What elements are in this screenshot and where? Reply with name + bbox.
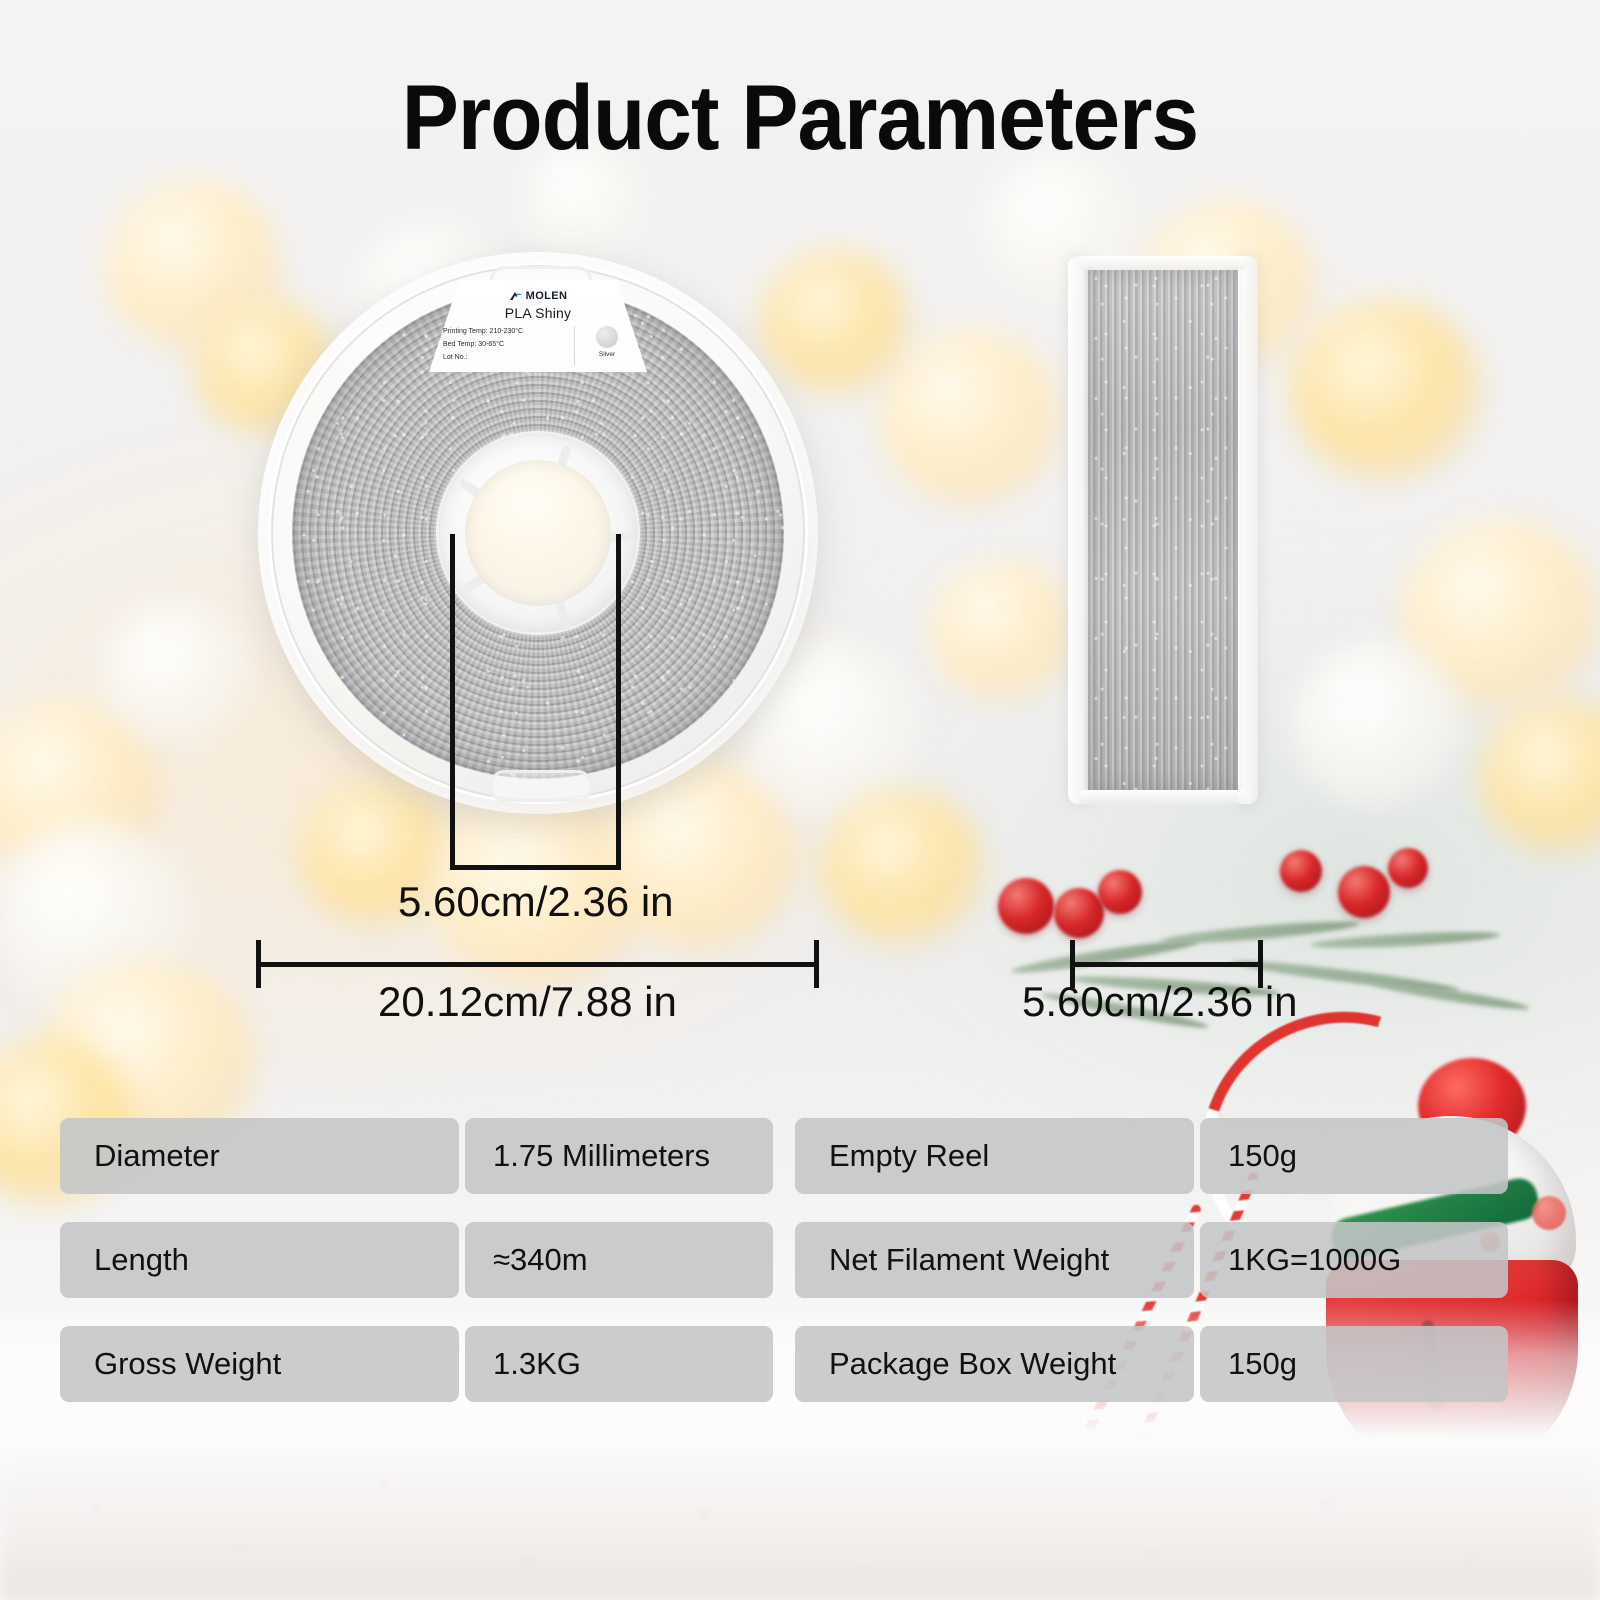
spool-edge-top [1078,256,1248,270]
measure-line-horizontal [450,865,621,870]
spool-hub [439,434,637,632]
label-spec-list: Printing Temp: 210-230°C Bed Temp: 30-65… [443,326,575,365]
bokeh-light [1400,520,1600,710]
label-body: Printing Temp: 210-230°C Bed Temp: 30-65… [429,326,647,365]
spec-pair-right: Package Box Weight 150g [795,1326,1508,1402]
table-row: Gross Weight 1.3KG Package Box Weight 15… [60,1326,1540,1402]
spec-pair-left: Length ≈340m [60,1222,773,1298]
filament-spool-side-view [1068,256,1258,804]
spec-key: Net Filament Weight [795,1222,1194,1298]
bokeh-light [0,700,160,880]
spec-pair-right: Net Filament Weight 1KG=1000G [795,1222,1508,1298]
spec-key: Length [60,1222,459,1298]
spec-key: Package Box Weight [795,1326,1194,1402]
product-label: MOLEN PLA Shiny Printing Temp: 210-230°C… [429,280,647,372]
bokeh-light [820,790,985,945]
table-row: Diameter 1.75 Millimeters Empty Reel 150… [60,1118,1540,1194]
bokeh-light [1480,700,1600,855]
spec-key: Diameter [60,1118,459,1194]
spec-key: Gross Weight [60,1326,459,1402]
spool-flange-left [1068,256,1088,804]
product-name: PLA Shiny [429,305,647,321]
amolen-swoosh-icon [509,291,523,302]
measure-line-vertical [450,534,455,870]
spec-value: 1.75 Millimeters [465,1118,773,1194]
brand-logo: MOLEN [429,290,647,302]
spec-value: 1.3KG [465,1326,773,1402]
color-swatch [596,326,618,348]
spec-value: 150g [1200,1118,1508,1194]
bokeh-light [880,330,1060,505]
bokeh-light [100,600,250,745]
measure-line-horizontal [1070,962,1263,967]
bokeh-light [1290,640,1465,810]
snow-ridge [0,1450,1600,1600]
spec-pair-right: Empty Reel 150g [795,1118,1508,1194]
specification-table: Diameter 1.75 Millimeters Empty Reel 150… [60,1118,1540,1430]
table-row: Length ≈340m Net Filament Weight 1KG=100… [60,1222,1540,1298]
bokeh-light [1290,300,1480,480]
spool-handle-slot [490,770,592,802]
spool-thickness-label: 5.60cm/2.36 in [1022,978,1298,1026]
spec-value: 1KG=1000G [1200,1222,1508,1298]
spec-value: 150g [1200,1326,1508,1402]
label-color-block: Silver [575,326,633,365]
label-printing-temp: Printing Temp: 210-230°C [443,326,568,339]
hub-width-label: 5.60cm/2.36 in [398,878,674,926]
spool-hub-bore [465,460,611,606]
measure-line-vertical [616,534,621,870]
glitter-sparkle-overlay [1084,270,1242,790]
spec-value: ≈340m [465,1222,773,1298]
spool-diameter-label: 20.12cm/7.88 in [378,978,677,1026]
brand-name: MOLEN [526,290,568,302]
label-lot-no: Lot No.: [443,352,568,365]
color-name: Silver [599,351,615,358]
spec-key: Empty Reel [795,1118,1194,1194]
bokeh-light [0,820,190,1015]
spec-pair-left: Diameter 1.75 Millimeters [60,1118,773,1194]
spool-edge-bottom [1078,790,1248,804]
spool-flange-right [1238,256,1258,804]
label-bed-temp: Bed Temp: 30-65°C [443,339,568,352]
bokeh-light [930,560,1075,700]
spec-pair-left: Gross Weight 1.3KG [60,1326,773,1402]
filament-spool-front-view: MOLEN PLA Shiny Printing Temp: 210-230°C… [258,252,818,814]
bokeh-light [105,180,280,350]
measure-line-horizontal [256,962,819,967]
infographic-page: Product Parameters MOLEN PLA Sh [0,0,1600,1600]
page-title: Product Parameters [56,72,1544,164]
